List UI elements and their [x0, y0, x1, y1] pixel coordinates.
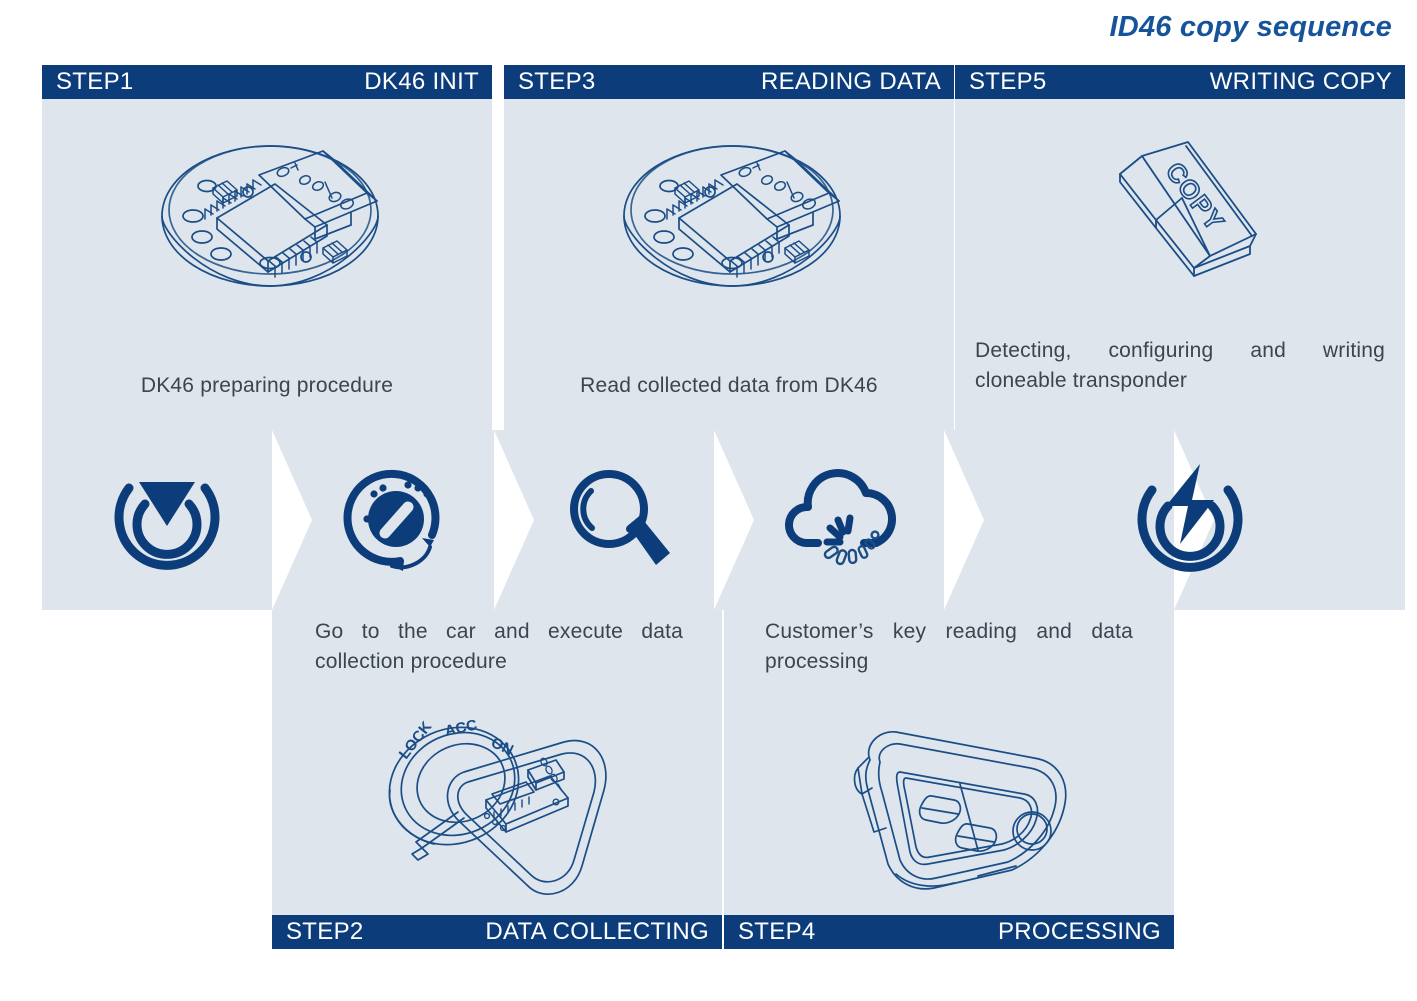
download-init-icon	[107, 464, 227, 576]
step2-number: STEP2	[286, 918, 364, 946]
step4-name: PROCESSING	[998, 918, 1161, 946]
step3-dk46-board-illustration	[617, 120, 847, 300]
step5-copy-transponder-illustration: COPY	[1090, 128, 1290, 283]
ignition-label-lock: LOCK	[396, 718, 436, 762]
page-title: ID46 copy sequence	[1110, 11, 1392, 44]
step3-description: Read collected data from DK46	[524, 371, 934, 401]
step5-number: STEP5	[969, 68, 1047, 96]
panel-seam-3	[722, 610, 724, 950]
step3-header: STEP3 READING DATA	[504, 65, 954, 99]
step4-header: STEP4 PROCESSING	[724, 915, 1174, 949]
power-write-icon	[1130, 464, 1250, 576]
step2-description: Go to the car and execute data collectio…	[315, 617, 683, 677]
step4-icon-cell	[744, 430, 944, 610]
band-gap-left	[0, 430, 42, 610]
step2-name: DATA COLLECTING	[485, 918, 709, 946]
step3-number: STEP3	[518, 68, 596, 96]
step4-remote-key-fob-illustration	[838, 698, 1100, 908]
step1-icon-cell	[42, 430, 292, 610]
band-gap-right	[1405, 430, 1417, 610]
step5-header: STEP5 WRITING COPY	[955, 65, 1405, 99]
step5-name: WRITING COPY	[1210, 68, 1392, 96]
panel-seam-1	[492, 65, 504, 430]
step1-name: DK46 INIT	[364, 68, 479, 96]
step1-description: DK46 preparing procedure	[62, 371, 472, 401]
step2-icon-cell	[302, 430, 492, 610]
step3-name: READING DATA	[761, 68, 941, 96]
step5-description: Detecting, configuring and writing clone…	[975, 336, 1385, 396]
step1-header: STEP1 DK46 INIT	[42, 65, 492, 99]
step4-description: Customer’s key reading and data processi…	[765, 617, 1133, 677]
step1-dk46-board-illustration	[155, 120, 385, 300]
step4-number: STEP4	[738, 918, 816, 946]
step5-icon-cell	[974, 430, 1405, 610]
step1-number: STEP1	[56, 68, 134, 96]
cloud-processing-icon	[778, 461, 910, 579]
panel-seam-2	[954, 65, 955, 430]
step3-icon-cell	[524, 430, 714, 610]
ignition-label-acc: ACC	[443, 716, 478, 739]
magnifier-icon	[560, 461, 678, 579]
step2-header: STEP2 DATA COLLECTING	[272, 915, 722, 949]
step2-car-key-in-ignition-illustration: LOCK ACC ON	[368, 698, 630, 908]
ignition-switch-icon	[338, 461, 456, 579]
infographic-root: ID46 copy sequence STEP1 DK46 INIT	[0, 0, 1417, 1001]
process-arrow-band	[0, 430, 1417, 610]
